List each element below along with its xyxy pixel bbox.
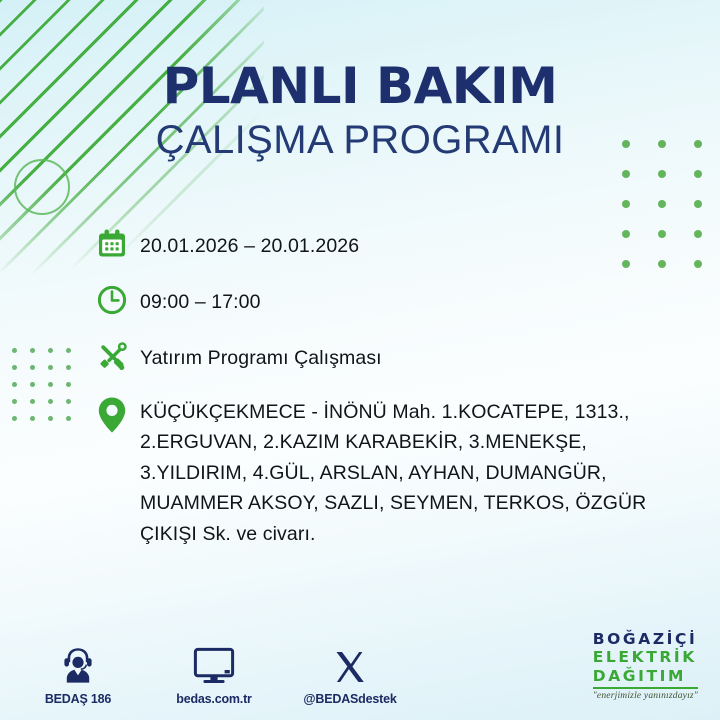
- decorative-dot: [622, 170, 630, 178]
- work-type-text: Yatırım Programı Çalışması: [140, 338, 382, 374]
- decorative-dot: [48, 365, 53, 370]
- circle-outline-decoration: [14, 159, 70, 215]
- decorative-dot: [694, 170, 702, 178]
- poster-header: PLANLI BAKIM ÇALIŞMA PROGRAMI: [0, 60, 720, 165]
- decorative-dot: [48, 348, 53, 353]
- decorative-dot: [48, 382, 53, 387]
- brand-tagline: "enerjimizle yanınızdayız": [593, 691, 698, 702]
- page-title: PLANLI BAKIM: [0, 60, 720, 113]
- decorative-dot: [622, 200, 630, 208]
- decorative-dot: [30, 399, 35, 404]
- decorative-dot: [30, 382, 35, 387]
- bedas-brand-logo: BOĞAZİÇİ ELEKTRİK DAĞITIM "enerjimizle y…: [593, 630, 698, 702]
- footer-contacts: BEDAŞ 186 bedas.com.tr @BEDASdestek: [30, 645, 398, 706]
- brand-underline: [593, 687, 698, 689]
- decorative-dot: [12, 382, 17, 387]
- decorative-dot: [12, 348, 17, 353]
- date-range-text: 20.01.2026 – 20.01.2026: [140, 226, 359, 262]
- contact-x-label: @BEDASdestek: [303, 692, 396, 706]
- detail-row-date: 20.01.2026 – 20.01.2026: [96, 226, 696, 266]
- contact-website-label: bedas.com.tr: [176, 692, 251, 706]
- location-text: KÜÇÜKÇEKMECE - İNÖNÜ Mah. 1.KOCATEPE, 13…: [140, 394, 696, 549]
- detail-row-work-type: Yatırım Programı Çalışması: [96, 338, 696, 378]
- detail-row-time: 09:00 – 17:00: [96, 282, 696, 322]
- decorative-dot: [12, 399, 17, 404]
- decorative-dot: [66, 365, 71, 370]
- contact-phone[interactable]: BEDAŞ 186: [30, 645, 126, 706]
- decorative-dot: [694, 200, 702, 208]
- decorative-dot: [12, 416, 17, 421]
- x-twitter-icon: [332, 645, 368, 685]
- decorative-dot: [66, 382, 71, 387]
- decorative-dot: [48, 399, 53, 404]
- location-pin-icon: [96, 394, 140, 434]
- decorative-dot: [12, 365, 17, 370]
- decorative-dot: [66, 348, 71, 353]
- brand-line-bogazici: BOĞAZİÇİ: [593, 630, 698, 648]
- time-range-text: 09:00 – 17:00: [140, 282, 261, 318]
- decorative-dot: [30, 416, 35, 421]
- planned-maintenance-poster: PLANLI BAKIM ÇALIŞMA PROGRAMI: [0, 0, 720, 720]
- headset-operator-icon: [59, 645, 97, 685]
- tools-icon: [96, 338, 140, 378]
- maintenance-details: 20.01.2026 – 20.01.2026 09:00 – 17:00: [96, 226, 696, 549]
- clock-icon: [96, 282, 140, 322]
- calendar-icon: [96, 226, 140, 266]
- decorative-dot: [658, 170, 666, 178]
- contact-phone-label: BEDAŞ 186: [45, 692, 111, 706]
- brand-line-elektrik: ELEKTRİK: [593, 648, 698, 666]
- brand-line-dagitim: DAĞITIM: [593, 667, 698, 685]
- decorative-dot: [658, 200, 666, 208]
- page-subtitle: ÇALIŞMA PROGRAMI: [0, 115, 720, 165]
- monitor-icon: [193, 645, 235, 685]
- decorative-dot: [48, 416, 53, 421]
- decorative-dot: [66, 399, 71, 404]
- decorative-dot: [30, 365, 35, 370]
- decorative-dot: [66, 416, 71, 421]
- detail-row-location: KÜÇÜKÇEKMECE - İNÖNÜ Mah. 1.KOCATEPE, 13…: [96, 394, 696, 549]
- dot-grid-left-decoration: [12, 348, 84, 433]
- decorative-dot: [30, 348, 35, 353]
- contact-website[interactable]: bedas.com.tr: [166, 645, 262, 706]
- contact-x-account[interactable]: @BEDASdestek: [302, 645, 398, 706]
